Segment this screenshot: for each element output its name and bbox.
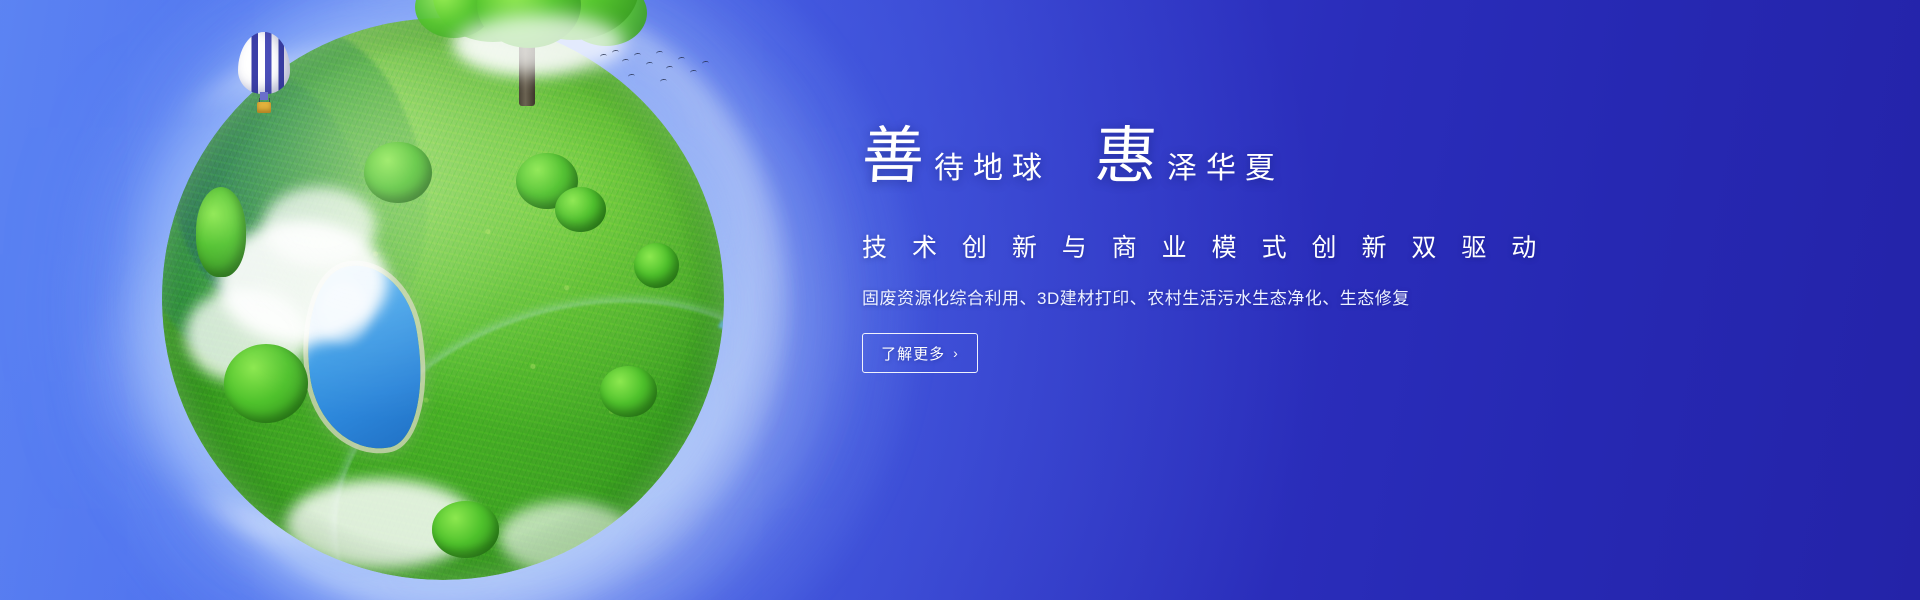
birds-flock-icon	[598, 48, 718, 92]
chevron-right-icon: ›	[953, 346, 959, 360]
balloon-neck	[260, 92, 268, 100]
headline-text-1: 待地球	[924, 154, 1051, 188]
hot-air-balloon-icon	[238, 32, 290, 118]
learn-more-button[interactable]: 了解更多 ›	[862, 333, 978, 373]
balloon-envelope	[238, 32, 290, 94]
headline-char-primary-1: 善	[860, 126, 925, 188]
balloon-basket	[257, 102, 271, 113]
learn-more-label: 了解更多	[881, 343, 945, 364]
hero-banner: 善待地球惠泽华夏 技 术 创 新 与 商 业 模 式 创 新 双 驱 动 固废资…	[0, 0, 1920, 600]
hero-content: 善待地球惠泽华夏 技 术 创 新 与 商 业 模 式 创 新 双 驱 动 固废资…	[862, 126, 1562, 373]
headline-char-primary-2: 惠	[1093, 126, 1158, 188]
hero-description: 固废资源化综合利用、3D建材打印、农村生活污水生态净化、生态修复	[862, 284, 1562, 309]
hero-headline: 善待地球惠泽华夏	[862, 126, 1562, 210]
hero-subtitle: 技 术 创 新 与 商 业 模 式 创 新 双 驱 动	[862, 228, 1562, 264]
headline-text-2: 泽华夏	[1157, 154, 1284, 188]
